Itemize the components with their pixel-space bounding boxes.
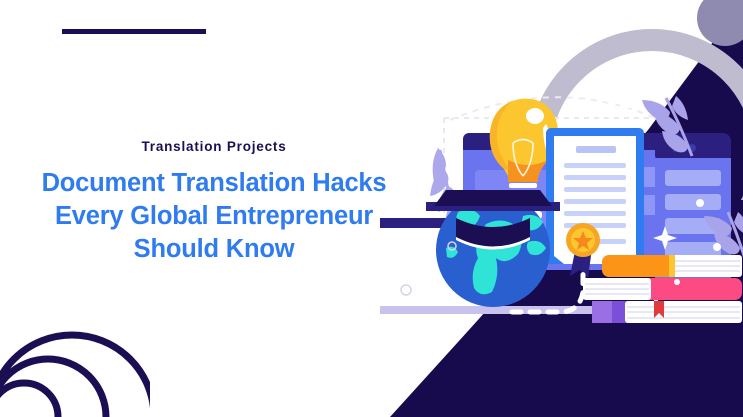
star-dots	[674, 199, 721, 285]
headline-line-3: Should Know	[134, 235, 295, 263]
book-stack	[583, 255, 742, 323]
sparkle-icon	[601, 88, 677, 306]
globe-icon	[426, 190, 560, 307]
leaf-sprig-right	[642, 96, 692, 156]
certificate-document	[546, 128, 644, 278]
dashed-arc-faint	[450, 97, 680, 130]
dashed-path	[512, 268, 583, 312]
dashed-path-top	[580, 100, 652, 134]
dashed-outline	[444, 118, 660, 240]
leaf-sprig	[430, 148, 460, 228]
document-translation-illustration	[380, 0, 743, 417]
bookmark-icon	[654, 301, 664, 318]
corner-arcs	[0, 317, 150, 417]
lamp-icon	[472, 205, 493, 264]
headline-line-2: Every Global Entrepreneur	[55, 202, 373, 230]
headline-line-1: Document Translation Hacks	[42, 169, 387, 197]
award-seal-icon	[566, 223, 600, 278]
leaf-sprig-far-right	[704, 212, 743, 262]
promo-banner: Translation Projects Document Translatio…	[0, 0, 743, 417]
app-screen-panel	[463, 133, 675, 270]
lightbulb-icon	[490, 99, 558, 188]
graduation-cap-icon	[426, 190, 560, 250]
desk-surface	[380, 218, 731, 314]
app-screen-panel-right	[655, 133, 731, 288]
page-title: Document Translation Hacks Every Global …	[6, 167, 422, 266]
banner-text-block: Translation Projects Document Translatio…	[6, 140, 422, 266]
eyebrow-label: Translation Projects	[6, 140, 422, 154]
gray-arc-ring	[380, 0, 743, 417]
top-rule	[62, 29, 206, 34]
